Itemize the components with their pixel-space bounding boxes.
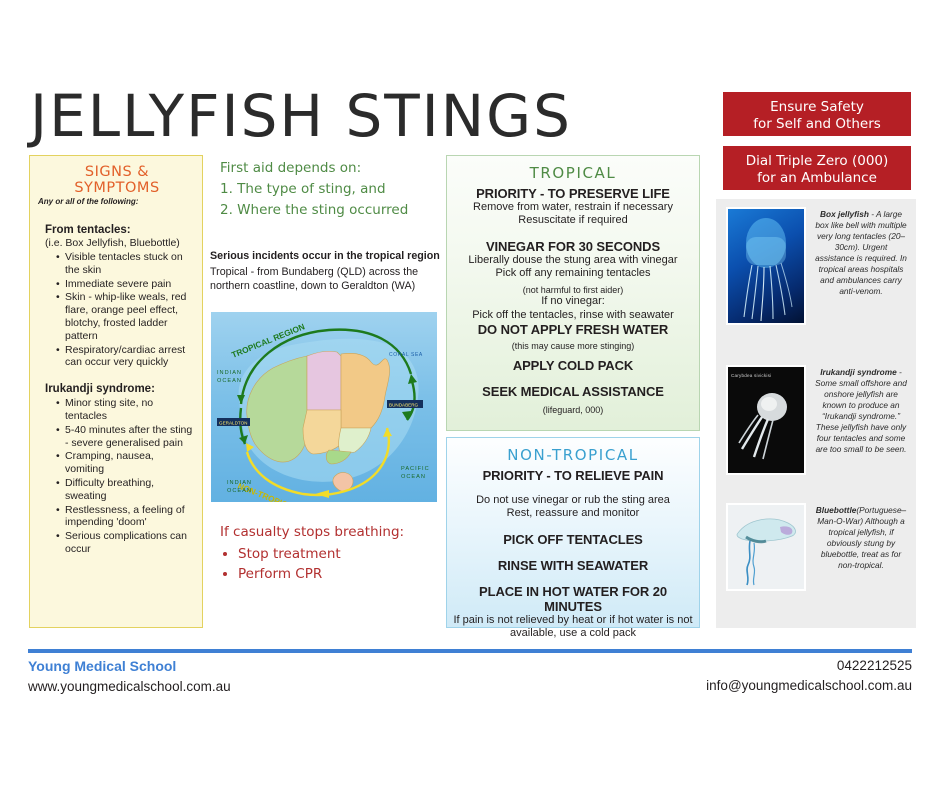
jellyfish-entry-bluebottle: Bluebottle(Portuguese–Man-O-War) Althoug… bbox=[726, 503, 908, 591]
tropical-no-vinegar: If no vinegar: bbox=[453, 295, 693, 308]
nontropical-line-1: Do not use vinegar or rub the sting area bbox=[453, 494, 693, 507]
bluebottle-illustration bbox=[728, 505, 804, 589]
footer-divider bbox=[28, 649, 912, 653]
footer-phone[interactable]: 0422212525 bbox=[706, 656, 912, 676]
nontropical-line-2: Rest, reassure and monitor bbox=[453, 507, 693, 520]
box-jellyfish-description: Box jellyfish - A large box like bell wi… bbox=[814, 207, 908, 325]
map-label-geraldton: GERALDTON bbox=[219, 421, 248, 426]
list-item: 5-40 minutes after the sting - severe ge… bbox=[57, 424, 193, 450]
box-jellyfish-illustration bbox=[728, 209, 804, 323]
nontropical-priority: PRIORITY - TO RELIEVE PAIN bbox=[453, 468, 693, 483]
irukandji-text: - Some small offshore and onshore jellyf… bbox=[815, 367, 907, 454]
signs-heading: SIGNS & SYMPTOMS bbox=[41, 164, 193, 196]
signs-subheading: Any or all of the following: bbox=[38, 197, 193, 206]
jellyfish-entry-box-jellyfish: Box jellyfish - A large box like bell wi… bbox=[726, 207, 908, 325]
list-item: Restlessness, a feeling of impending 'do… bbox=[57, 504, 193, 530]
list-item: Serious complications can occur bbox=[57, 530, 193, 556]
banner-dial-triple-zero: Dial Triple Zero (000) for an Ambulance bbox=[723, 146, 911, 190]
stops-breathing-list: Stop treatment Perform CPR bbox=[220, 544, 435, 585]
nontropical-hot-water: PLACE IN HOT WATER FOR 20 MINUTES bbox=[453, 584, 693, 614]
list-item: Perform CPR bbox=[238, 564, 435, 584]
map-label-pacific-ocean: PACIFIC bbox=[401, 466, 430, 472]
jellyfish-entry-irukandji: Carybdea sivickisi Irukandji syndrome - … bbox=[726, 365, 908, 475]
banner-safety-line-2: for Self and Others bbox=[727, 116, 907, 133]
stops-breathing-heading: If casualty stops breathing: bbox=[220, 524, 435, 540]
nontropical-pick-tentacles: PICK OFF TENTACLES bbox=[453, 532, 693, 547]
map-label-coral-sea: CORAL SEA bbox=[389, 352, 423, 358]
tropical-no-fresh-water: DO NOT APPLY FRESH WATER bbox=[453, 322, 693, 337]
irukandji-name: Irukandji syndrome bbox=[820, 367, 897, 377]
bluebottle-description: Bluebottle(Portuguese–Man-O-War) Althoug… bbox=[814, 503, 908, 591]
serious-heading: Serious incidents occur in the tropical … bbox=[210, 250, 440, 263]
from-tentacles-heading: From tentacles: bbox=[45, 224, 193, 236]
footer-left: Young Medical School www.youngmedicalsch… bbox=[28, 656, 231, 697]
tropical-vinegar-note: (not harmful to first aider) bbox=[453, 285, 693, 296]
box-jellyfish-photo bbox=[726, 207, 806, 325]
tropical-line-2: Resuscitate if required bbox=[453, 214, 693, 227]
tropical-cold-pack: APPLY COLD PACK bbox=[453, 358, 693, 373]
list-item: Respiratory/cardiac arrest can occur ver… bbox=[57, 344, 193, 370]
tropical-line-1: Remove from water, restrain if necessary bbox=[453, 201, 693, 214]
infographic-page: JELLYFISH STINGS SIGNS & SYMPTOMS Any or… bbox=[0, 0, 940, 788]
map-label-indian-ocean-bottom2: OCEAN bbox=[227, 488, 252, 494]
tropical-medical-note: (lifeguard, 000) bbox=[453, 405, 693, 416]
footer-website[interactable]: www.youngmedicalschool.com.au bbox=[28, 677, 231, 697]
tropical-treatment-panel: TROPICAL PRIORITY - TO PRESERVE LIFE Rem… bbox=[446, 155, 700, 431]
bluebottle-name: Bluebottle bbox=[816, 505, 857, 515]
nontropical-treatment-panel: NON-TROPICAL PRIORITY - TO RELIEVE PAIN … bbox=[446, 437, 700, 628]
banner-ambulance-line-1: Dial Triple Zero (000) bbox=[727, 153, 907, 170]
nontropical-title: NON-TROPICAL bbox=[453, 446, 693, 464]
irukandji-illustration bbox=[728, 367, 804, 473]
list-item: Cramping, nausea, vomiting bbox=[57, 450, 193, 476]
australia-map: TROPICAL REGION NON-TROPICAL REGION INDI… bbox=[211, 312, 437, 502]
list-item: Visible tentacles stuck on the skin bbox=[57, 251, 193, 277]
map-label-indian-ocean-top2: OCEAN bbox=[217, 378, 242, 384]
tropical-medical: SEEK MEDICAL ASSISTANCE bbox=[453, 384, 693, 399]
signs-and-symptoms-panel: SIGNS & SYMPTOMS Any or all of the follo… bbox=[29, 155, 203, 628]
map-state-nt bbox=[307, 351, 341, 410]
box-jellyfish-text: - A large box like bell with multiple ve… bbox=[815, 209, 907, 296]
footer-right: 0422212525 info@youngmedicalschool.com.a… bbox=[706, 656, 912, 697]
irukandji-symptom-list: Minor sting site, no tentacles 5-40 minu… bbox=[41, 397, 193, 556]
map-state-sa bbox=[303, 410, 341, 454]
first-aid-point-1: 1. The type of sting, and bbox=[220, 179, 435, 200]
footer-school-name: Young Medical School bbox=[28, 656, 231, 677]
nontropical-rinse: RINSE WITH SEAWATER bbox=[453, 558, 693, 573]
list-item: Stop treatment bbox=[238, 544, 435, 564]
irukandji-heading: Irukandji syndrome: bbox=[45, 383, 193, 395]
stops-breathing-block: If casualty stops breathing: Stop treatm… bbox=[220, 524, 435, 585]
banner-ensure-safety: Ensure Safety for Self and Others bbox=[723, 92, 911, 136]
list-item: Minor sting site, no tentacles bbox=[57, 397, 193, 423]
banner-ambulance-line-2: for an Ambulance bbox=[727, 170, 907, 187]
irukandji-photo: Carybdea sivickisi bbox=[726, 365, 806, 475]
tropical-vinegar-line-1: Liberally douse the stung area with vine… bbox=[453, 254, 693, 267]
list-item: Skin - whip-like weals, red flare, orang… bbox=[57, 291, 193, 342]
list-item: Difficulty breathing, sweating bbox=[57, 477, 193, 503]
map-label-indian-ocean-top: INDIAN bbox=[217, 370, 242, 376]
nontropical-hot-water-note: If pain is not relieved by heat or if ho… bbox=[453, 614, 693, 641]
map-label-bundaberg: BUNDABERG bbox=[389, 403, 419, 408]
banner-safety-line-1: Ensure Safety bbox=[727, 99, 907, 116]
list-item: Immediate severe pain bbox=[57, 278, 193, 291]
tropical-vinegar: VINEGAR FOR 30 SECONDS bbox=[453, 239, 693, 254]
serious-body: Tropical - from Bundaberg (QLD) across t… bbox=[210, 266, 440, 294]
irukandji-photo-caption: Carybdea sivickisi bbox=[731, 373, 771, 378]
map-label-indian-ocean-bottom: INDIAN bbox=[227, 480, 252, 486]
tropical-no-fresh-note: (this may cause more stinging) bbox=[453, 341, 693, 352]
first-aid-intro: First aid depends on: bbox=[220, 158, 435, 179]
box-jellyfish-name: Box jellyfish bbox=[820, 209, 869, 219]
first-aid-depends-block: First aid depends on: 1. The type of sti… bbox=[220, 158, 435, 221]
tropical-vinegar-line-2: Pick off any remaining tentacles bbox=[453, 267, 693, 280]
australia-map-svg: TROPICAL REGION NON-TROPICAL REGION INDI… bbox=[211, 312, 437, 502]
tropical-priority: PRIORITY - TO PRESERVE LIFE bbox=[453, 186, 693, 201]
irukandji-description: Irukandji syndrome - Some small offshore… bbox=[814, 365, 908, 475]
tentacles-symptom-list: Visible tentacles stuck on the skin Imme… bbox=[41, 251, 193, 369]
serious-incidents-block: Serious incidents occur in the tropical … bbox=[210, 250, 440, 294]
map-label-pacific-ocean2: OCEAN bbox=[401, 474, 426, 480]
first-aid-point-2: 2. Where the sting occurred bbox=[220, 200, 435, 221]
tropical-no-vinegar-line: Pick off the tentacles, rinse with seawa… bbox=[453, 309, 693, 322]
bluebottle-photo bbox=[726, 503, 806, 591]
tropical-title: TROPICAL bbox=[453, 164, 693, 182]
from-tentacles-note: (i.e. Box Jellyfish, Bluebottle) bbox=[45, 237, 193, 249]
footer-email[interactable]: info@youngmedicalschool.com.au bbox=[706, 676, 912, 696]
page-title: JELLYFISH STINGS bbox=[30, 82, 572, 150]
